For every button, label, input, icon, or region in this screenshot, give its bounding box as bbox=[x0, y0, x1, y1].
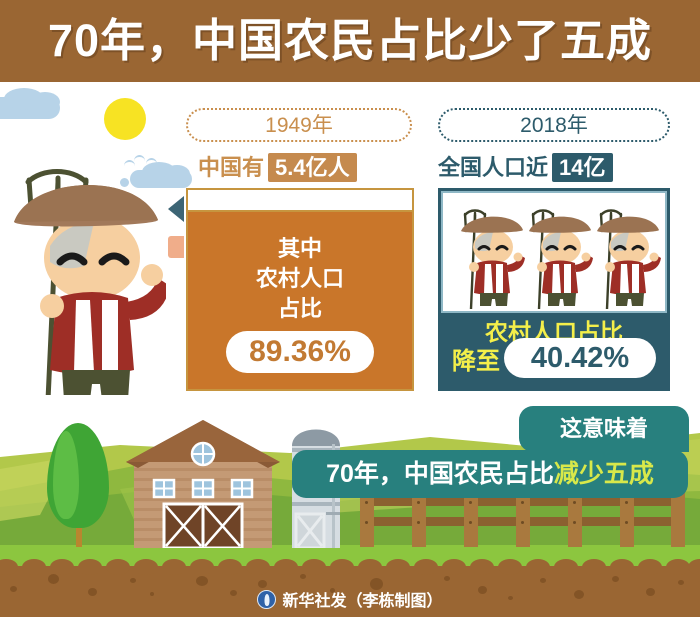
credit-bar: 新华社发（李栋制图） bbox=[0, 586, 700, 612]
population-value-2018: 14亿 bbox=[552, 153, 612, 182]
year-label-1949: 1949年 bbox=[265, 114, 333, 137]
year-pill-1949: 1949年 bbox=[186, 108, 412, 142]
conclusion-main: 70年，中国农民占比减少五成 bbox=[292, 450, 688, 498]
cloud-icon bbox=[164, 165, 190, 183]
farmer-group bbox=[443, 193, 665, 315]
farmer-icon bbox=[525, 205, 593, 309]
population-prefix-2018: 全国人口近 bbox=[438, 155, 548, 180]
population-line-2018: 全国人口近14亿 bbox=[438, 150, 613, 182]
population-prefix-1949: 中国有 bbox=[198, 155, 264, 180]
bar-1949-urban-share bbox=[188, 190, 412, 212]
population-line-1949: 中国有5.4亿人 bbox=[198, 150, 357, 182]
barn-icon bbox=[118, 418, 288, 548]
bar-2018-decline-row: 降至 40.42% bbox=[441, 338, 667, 378]
bar-2018-figure-area bbox=[441, 191, 667, 313]
farmer-icon bbox=[457, 205, 525, 309]
bar-1949: 其中 农村人口 占比 89.36% bbox=[186, 188, 414, 391]
year-label-2018: 2018年 bbox=[520, 114, 588, 137]
infographic-canvas: 70年，中国农民占比少了五成 bbox=[0, 0, 700, 617]
farmer-icon bbox=[593, 205, 661, 309]
percent-badge-2018: 40.42% bbox=[504, 338, 656, 378]
cloud-icon bbox=[30, 92, 60, 112]
farmer-icon bbox=[6, 150, 166, 400]
page-title: 70年，中国农民占比少了五成 bbox=[0, 10, 700, 72]
sun-icon bbox=[104, 98, 146, 140]
bar-1949-caption: 其中 农村人口 占比 bbox=[188, 234, 412, 324]
percent-badge-1949: 89.36% bbox=[226, 331, 374, 373]
credit-text: 新华社发（李栋制图） bbox=[282, 587, 442, 611]
bar-1949-caption-line2: 农村人口 bbox=[188, 264, 412, 294]
conclusion-lead: 这意味着 bbox=[519, 406, 689, 452]
xinhua-logo-icon bbox=[257, 590, 276, 609]
bar-1949-caption-line3: 占比 bbox=[188, 294, 412, 324]
arrow-left-icon bbox=[168, 236, 184, 258]
year-pill-2018: 2018年 bbox=[438, 108, 670, 142]
bar-1949-caption-line1: 其中 bbox=[188, 234, 412, 264]
bar-2018: 农村人口占比 降至 40.42% bbox=[438, 188, 670, 391]
population-value-1949: 5.4亿人 bbox=[268, 153, 357, 182]
decline-prefix-2018: 降至 bbox=[452, 341, 500, 376]
conclusion-main-accent: 减少五成 bbox=[554, 460, 654, 488]
conclusion-main-plain: 70年，中国农民占比 bbox=[326, 460, 554, 488]
arrow-left-icon bbox=[168, 196, 184, 222]
